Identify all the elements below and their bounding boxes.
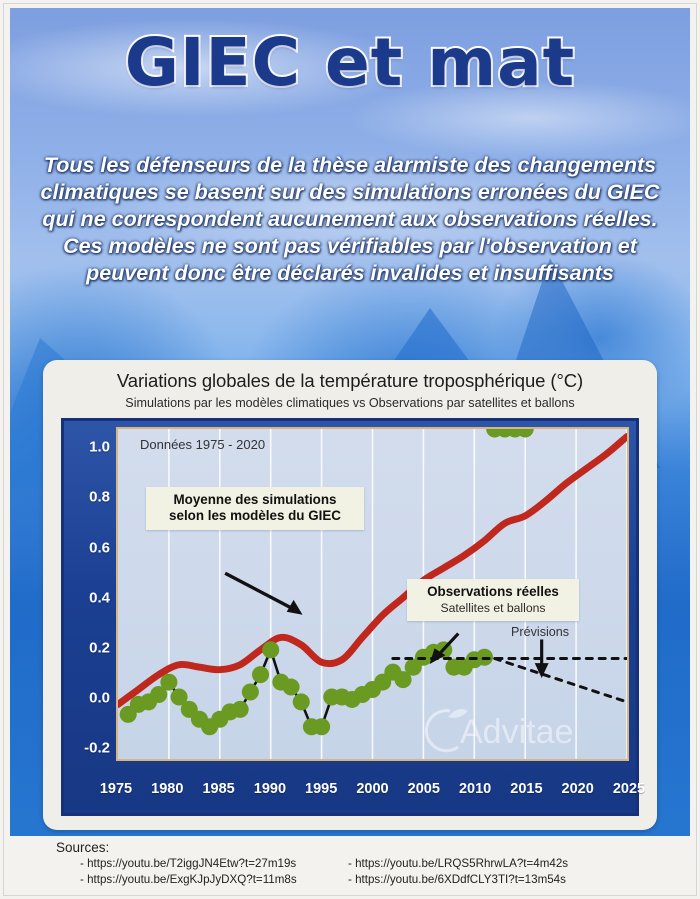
y-tick-label: 0.6: [89, 539, 110, 556]
callout-observations: Observations réelles Satellites et ballo…: [407, 579, 579, 621]
y-tick-label: 0.2: [89, 639, 110, 656]
source-link[interactable]: - https://youtu.be/LRQS5RhrwLA?t=4m42s: [324, 856, 592, 872]
y-tick-label: 1.0: [89, 439, 110, 456]
observation-marker: [283, 679, 300, 696]
observation-marker: [313, 718, 330, 735]
sources-label: Sources:: [56, 840, 700, 855]
chart-subtitle: Simulations par les modèles climatiques …: [43, 396, 657, 410]
x-tick-label: 1995: [305, 781, 337, 797]
callout-models: Moyenne des simulations selon les modèle…: [146, 487, 364, 530]
series-dashed-trend: [495, 659, 627, 702]
callout-models-line2: selon les modèles du GIEC: [156, 508, 354, 524]
source-link[interactable]: - https://youtu.be/T2iggJN4Etw?t=27m19s: [56, 856, 324, 872]
arrow-to-model-curve: [225, 573, 298, 612]
chart-title: Variations globales de la température tr…: [43, 370, 657, 392]
callout-observations-subtitle: Satellites et ballons: [417, 601, 569, 615]
chart-card: Variations globales de la température tr…: [43, 360, 657, 830]
plot-area: Données 1975 - 2020 Moyenne des simulati…: [116, 427, 629, 761]
lead-paragraph: Tous les défenseurs de la thèse alarmist…: [28, 152, 672, 287]
observation-marker: [252, 666, 269, 683]
sources-column-right: - https://youtu.be/LRQS5RhrwLA?t=4m42s- …: [324, 856, 592, 889]
y-axis-ticks: 1.00.80.60.40.20.0-0.2: [64, 421, 116, 761]
y-tick-label: -0.2: [84, 740, 110, 757]
x-tick-label: 2020: [562, 781, 594, 797]
title-container: GIEC et mat: [10, 30, 690, 96]
data-range-note: Données 1975 - 2020: [140, 437, 265, 452]
poster-title: GIEC et mat: [10, 30, 690, 96]
forecast-label: Prévisions: [511, 625, 569, 639]
callout-models-line1: Moyenne des simulations: [156, 492, 354, 508]
sources-columns: - https://youtu.be/T2iggJN4Etw?t=27m19s-…: [56, 856, 700, 889]
x-tick-label: 2010: [459, 781, 491, 797]
observation-marker: [242, 684, 259, 701]
observation-marker: [293, 693, 310, 710]
x-tick-label: 1985: [202, 781, 234, 797]
y-tick-label: 0.4: [89, 589, 110, 606]
x-tick-label: 2000: [356, 781, 388, 797]
x-tick-label: 1975: [100, 781, 132, 797]
y-tick-label: 0.8: [89, 489, 110, 506]
sources-column-left: - https://youtu.be/T2iggJN4Etw?t=27m19s-…: [56, 856, 324, 889]
observation-marker: [160, 674, 177, 691]
poster: GIEC et mat Tous les défenseurs de la th…: [0, 0, 700, 899]
x-tick-label: 2015: [510, 781, 542, 797]
source-link[interactable]: - https://youtu.be/6XDdfCLY3TI?t=13m54s: [324, 872, 592, 888]
x-tick-label: 2025: [613, 781, 645, 797]
plot-frame: 1.00.80.60.40.20.0-0.2 19751980198519901…: [61, 418, 639, 816]
y-tick-label: 0.0: [89, 690, 110, 707]
x-tick-label: 2005: [408, 781, 440, 797]
x-tick-label: 1980: [151, 781, 183, 797]
callout-observations-title: Observations réelles: [417, 584, 569, 600]
x-tick-label: 1990: [254, 781, 286, 797]
x-axis-ticks: 1975198019851990199520002005201020152020…: [64, 777, 636, 807]
observation-marker: [262, 641, 279, 658]
sources-block: Sources: - https://youtu.be/T2iggJN4Etw?…: [0, 840, 700, 889]
source-link[interactable]: - https://youtu.be/ExgKJpJyDXQ?t=11m8s: [56, 872, 324, 888]
observation-marker: [232, 701, 249, 718]
